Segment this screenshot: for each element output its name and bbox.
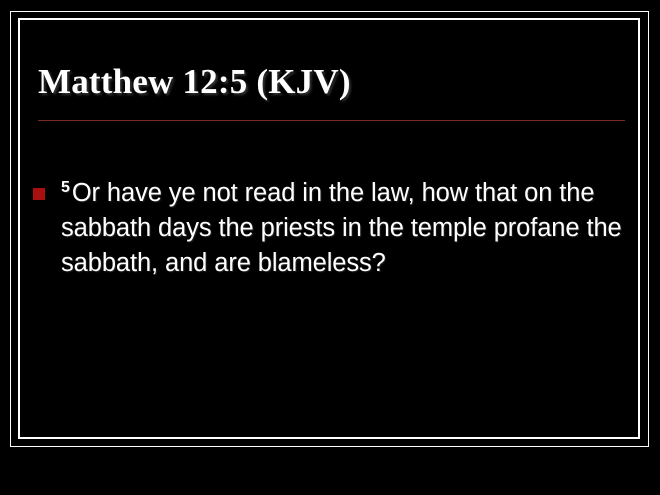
title-divider — [38, 120, 625, 121]
body-area: 5Or have ye not read in the law, how tha… — [33, 176, 628, 281]
verse-number: 5 — [61, 179, 72, 196]
verse-body: Or have ye not read in the law, how that… — [61, 179, 622, 277]
bullet-text: 5Or have ye not read in the law, how tha… — [61, 176, 628, 281]
page-title: Matthew 12:5 (KJV) — [38, 60, 626, 104]
square-bullet-icon — [33, 188, 45, 200]
slide: Matthew 12:5 (KJV) 5Or have ye not read … — [0, 0, 660, 495]
list-item: 5Or have ye not read in the law, how tha… — [33, 176, 628, 281]
title-area: Matthew 12:5 (KJV) — [38, 60, 626, 104]
